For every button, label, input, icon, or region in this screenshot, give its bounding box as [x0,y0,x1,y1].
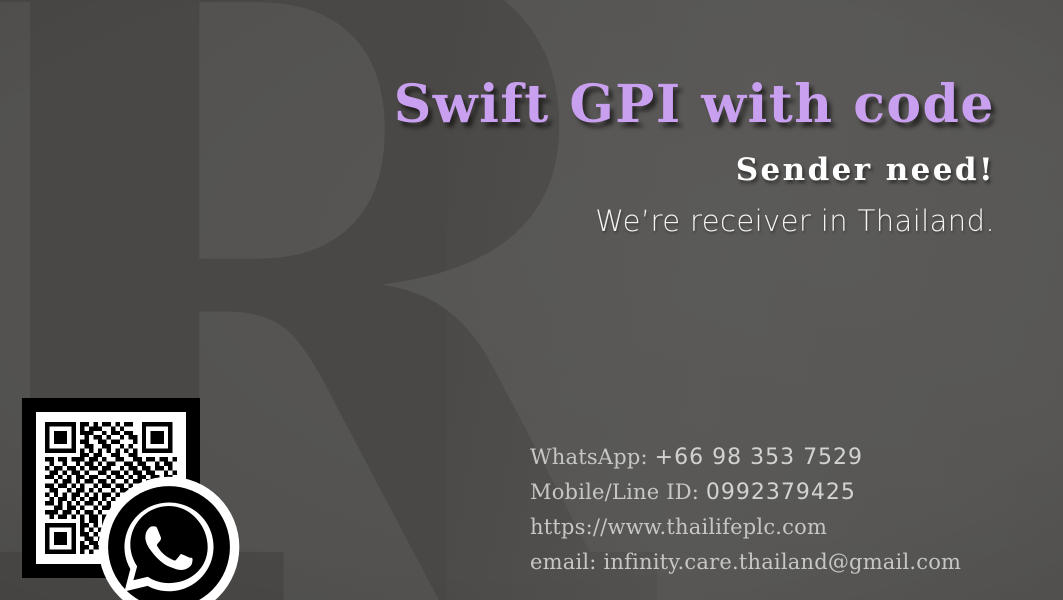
contact-label-whatsapp: WhatsApp: [530,445,648,469]
contact-block: WhatsApp: +66 98 353 7529 Mobile/Line ID… [530,440,1030,580]
business-card: R Swift GPI with code Sender need! We’re… [0,0,1063,600]
page-title: Swift GPI with code [55,78,995,133]
headline-subtitle: Sender need! [55,153,995,187]
contact-line-email: email: infinity.care.thailand@gmail.com [530,545,1030,580]
whatsapp-logo-icon [94,471,244,600]
contact-label-mobile: Mobile/Line ID: [530,480,699,504]
contact-value-whatsapp[interactable]: +66 98 353 7529 [655,445,863,470]
contact-value-website[interactable]: https://www.thailifeplc.com [530,515,827,539]
headline-block: Swift GPI with code Sender need! We’re r… [55,78,995,238]
qr-code-frame[interactable] [22,398,200,578]
contact-line-mobile: Mobile/Line ID: 0992379425 [530,475,1030,510]
contact-value-mobile[interactable]: 0992379425 [706,480,856,505]
contact-value-email[interactable]: infinity.care.thailand@gmail.com [603,550,961,574]
contact-line-website[interactable]: https://www.thailifeplc.com [530,510,1030,545]
contact-line-whatsapp: WhatsApp: +66 98 353 7529 [530,440,1030,475]
headline-tagline: We’re receiver in Thailand. [55,205,995,238]
qr-code[interactable] [36,412,186,564]
contact-label-email: email: [530,550,597,574]
